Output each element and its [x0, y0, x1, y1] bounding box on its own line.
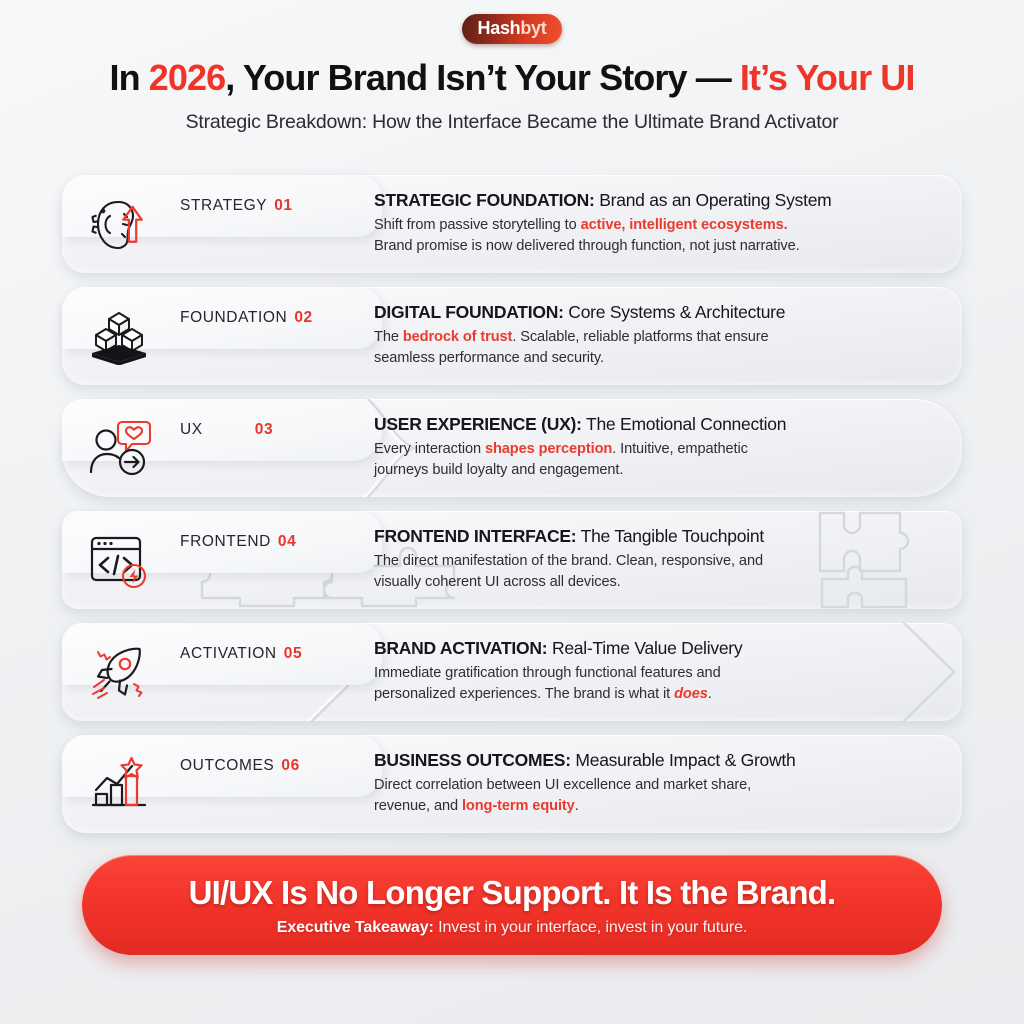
- body-line2-post: .: [575, 798, 579, 814]
- stage-label-outcomes: OUTCOMES06: [180, 753, 378, 779]
- banner-headline: UI/UX Is No Longer Support. It Is the Br…: [189, 874, 836, 912]
- body-line2-post: .: [708, 686, 712, 702]
- page-title: In 2026, Your Brand Isn’t Your Story — I…: [0, 57, 1024, 99]
- body-pre: Direct correlation between UI excellence…: [374, 777, 751, 793]
- stage-number: 03: [255, 421, 273, 439]
- row-title-bold: DIGITAL FOUNDATION:: [374, 302, 564, 322]
- user-heart-arrow-icon: [80, 415, 158, 483]
- row-title-rest: The Tangible Touchpoint: [576, 526, 764, 546]
- row-title-rest: Core Systems & Architecture: [564, 302, 786, 322]
- row-body: The bedrock of trust. Scalable, reliable…: [374, 327, 944, 368]
- body-line2-highlight: long-term equity: [462, 798, 575, 814]
- body-pre: Shift from passive storytelling to: [374, 217, 581, 233]
- stage-number: 02: [294, 309, 312, 327]
- stage-row-frontend: FRONTEND04 FRONTEND INTERFACE: The Tangi…: [62, 511, 962, 609]
- row-content: DIGITAL FOUNDATION: Core Systems & Archi…: [374, 301, 944, 369]
- body-line2-pre: revenue, and: [374, 798, 462, 814]
- row-title-bold: FRONTEND INTERFACE:: [374, 526, 576, 546]
- stage-row-activation: ACTIVATION05 BRAND ACTIVATION: Real-Time…: [62, 623, 962, 721]
- bar-chart-star-icon: [80, 751, 158, 819]
- body-pre: Every interaction: [374, 441, 485, 457]
- row-title: DIGITAL FOUNDATION: Core Systems & Archi…: [374, 301, 944, 324]
- stage-label-strategy: STRATEGY01: [180, 193, 378, 219]
- row-title-bold: USER EXPERIENCE (UX):: [374, 414, 582, 434]
- stage-number: 05: [284, 645, 302, 663]
- stacked-cubes-icon: [80, 303, 158, 371]
- body-line2: seamless performance and security.: [374, 350, 604, 366]
- stage-label-ux: UX03: [180, 417, 378, 443]
- row-title: BUSINESS OUTCOMES: Measurable Impact & G…: [374, 749, 944, 772]
- title-year: 2026: [149, 57, 226, 98]
- body-line2-pre: personalized experiences. The brand is w…: [374, 686, 674, 702]
- banner-subtext: Executive Takeaway: Invest in your inter…: [277, 919, 748, 937]
- body-line2: visually coherent UI across all devices.: [374, 574, 621, 590]
- stage-name: ACTIVATION: [180, 645, 277, 663]
- row-content: BUSINESS OUTCOMES: Measurable Impact & G…: [374, 749, 944, 817]
- brand-logo-container: Hashbyt: [0, 14, 1024, 44]
- body-post: . Scalable, reliable platforms that ensu…: [512, 329, 768, 345]
- stage-name: FOUNDATION: [180, 309, 287, 327]
- row-title: USER EXPERIENCE (UX): The Emotional Conn…: [374, 413, 944, 436]
- title-middle: , Your Brand Isn’t Your Story —: [225, 57, 740, 98]
- row-content: FRONTEND INTERFACE: The Tangible Touchpo…: [374, 525, 944, 593]
- title-accent: It’s Your UI: [740, 57, 915, 98]
- body-line2: journeys build loyalty and engagement.: [374, 462, 623, 478]
- row-title: STRATEGIC FOUNDATION: Brand as an Operat…: [374, 189, 944, 212]
- row-title-rest: Real-Time Value Delivery: [547, 638, 742, 658]
- row-title-rest: Measurable Impact & Growth: [571, 750, 796, 770]
- banner-sub-bold: Executive Takeaway:: [277, 919, 434, 936]
- hashbyt-logo: Hashbyt: [462, 14, 563, 44]
- body-pre: Immediate gratification through function…: [374, 665, 721, 681]
- logo-text-hash: Hash: [478, 18, 521, 38]
- row-title: BRAND ACTIVATION: Real-Time Value Delive…: [374, 637, 944, 660]
- body-line2: Brand promise is now delivered through f…: [374, 238, 800, 254]
- banner-sub-rest: Invest in your interface, invest in your…: [434, 919, 747, 936]
- row-body: Every interaction shapes perception. Int…: [374, 439, 944, 480]
- row-title-rest: The Emotional Connection: [582, 414, 787, 434]
- row-body: Immediate gratification through function…: [374, 663, 944, 704]
- stage-name: STRATEGY: [180, 197, 267, 215]
- stage-label-frontend: FRONTEND04: [180, 529, 378, 555]
- body-highlight: active, intelligent ecosystems.: [581, 217, 788, 233]
- stage-name: UX: [180, 421, 203, 439]
- body-pre: The direct manifestation of the brand. C…: [374, 553, 763, 569]
- row-body: Direct correlation between UI excellence…: [374, 775, 944, 816]
- stage-name: FRONTEND: [180, 533, 271, 551]
- stage-list: STRATEGY01 STRATEGIC FOUNDATION: Brand a…: [62, 175, 962, 847]
- row-title-bold: STRATEGIC FOUNDATION:: [374, 190, 595, 210]
- stage-row-ux: UX03 USER EXPERIENCE (UX): The Emotional…: [62, 399, 962, 497]
- stage-number: 01: [274, 197, 292, 215]
- body-highlight: shapes perception: [485, 441, 612, 457]
- row-content: BRAND ACTIVATION: Real-Time Value Delive…: [374, 637, 944, 705]
- row-body: The direct manifestation of the brand. C…: [374, 551, 944, 592]
- rocket-icon: [80, 639, 158, 707]
- stage-label-activation: ACTIVATION05: [180, 641, 378, 667]
- stage-number: 06: [281, 757, 299, 775]
- stage-row-foundation: FOUNDATION02 DIGITAL FOUNDATION: Core Sy…: [62, 287, 962, 385]
- stage-row-strategy: STRATEGY01 STRATEGIC FOUNDATION: Brand a…: [62, 175, 962, 273]
- takeaway-banner: UI/UX Is No Longer Support. It Is the Br…: [82, 855, 942, 955]
- gear-brain-arrow-icon: [80, 191, 158, 259]
- browser-code-bolt-icon: [80, 527, 158, 595]
- row-content: STRATEGIC FOUNDATION: Brand as an Operat…: [374, 189, 944, 257]
- row-body: Shift from passive storytelling to activ…: [374, 215, 944, 256]
- row-title-bold: BRAND ACTIVATION:: [374, 638, 547, 658]
- title-prefix: In: [110, 57, 149, 98]
- stage-label-foundation: FOUNDATION02: [180, 305, 378, 331]
- body-pre: The: [374, 329, 403, 345]
- infographic-page: Hashbyt In 2026, Your Brand Isn’t Your S…: [0, 0, 1024, 1024]
- body-line2-highlight: does: [674, 686, 708, 702]
- stage-number: 04: [278, 533, 296, 551]
- row-title-bold: BUSINESS OUTCOMES:: [374, 750, 571, 770]
- page-subtitle: Strategic Breakdown: How the Interface B…: [0, 111, 1024, 134]
- stage-name: OUTCOMES: [180, 757, 274, 775]
- logo-text-byt: byt: [520, 18, 546, 38]
- stage-row-outcomes: OUTCOMES06 BUSINESS OUTCOMES: Measurable…: [62, 735, 962, 833]
- row-title: FRONTEND INTERFACE: The Tangible Touchpo…: [374, 525, 944, 548]
- body-highlight: bedrock of trust: [403, 329, 513, 345]
- body-post: . Intuitive, empathetic: [612, 441, 748, 457]
- row-content: USER EXPERIENCE (UX): The Emotional Conn…: [374, 413, 944, 481]
- row-title-rest: Brand as an Operating System: [595, 190, 832, 210]
